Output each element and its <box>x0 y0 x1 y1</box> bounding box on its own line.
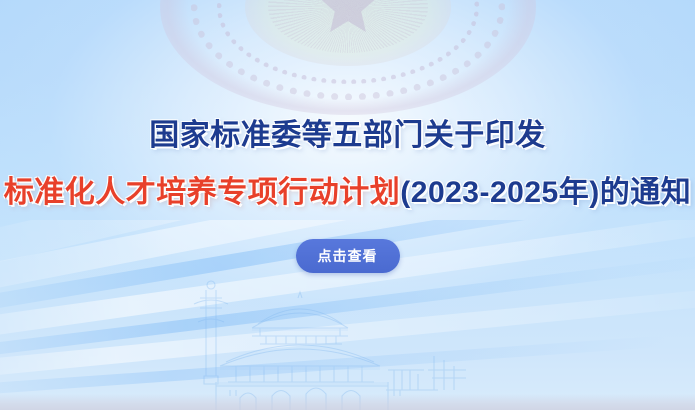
plan-name-highlight: 标准化人才培养专项行动计划 <box>4 176 401 209</box>
notice-banner: 国家标准委等五部门关于印发 标准化人才培养专项行动计划(2023-2025年)的… <box>0 0 695 410</box>
notice-title-line-1: 国家标准委等五部门关于印发 <box>149 118 546 153</box>
notice-title-line-2: 标准化人才培养专项行动计划(2023-2025年)的通知 <box>4 175 691 210</box>
plan-year-range: (2023-2025年) <box>400 176 599 209</box>
notice-suffix: 的通知 <box>600 176 692 209</box>
banner-content: 国家标准委等五部门关于印发 标准化人才培养专项行动计划(2023-2025年)的… <box>0 0 695 410</box>
view-detail-button[interactable]: 点击查看 <box>296 239 400 273</box>
